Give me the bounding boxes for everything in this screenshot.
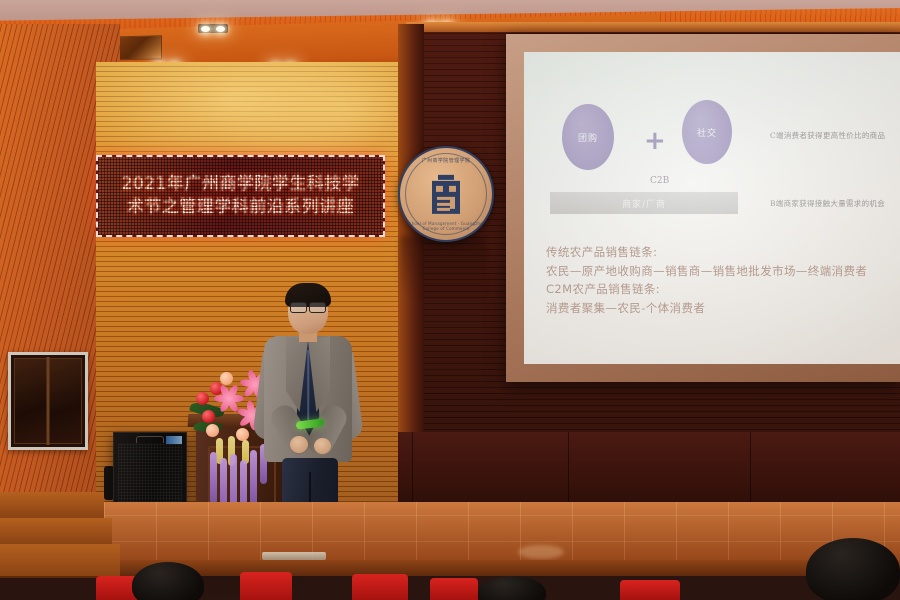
lecture-hall-photo: 2021年广州商学院学生科技学 术节之管理学科前沿系列讲座 广州商学院管理学院 … (0, 0, 900, 600)
seat-back (352, 574, 408, 600)
seat-back (240, 572, 292, 600)
floor-light-reflection (518, 545, 564, 559)
emblem-chinese-text: 广州商学院管理学院 (400, 157, 492, 164)
emblem-bell-glyph (424, 172, 468, 218)
presenter-left-hand (290, 436, 308, 453)
led-banner-line-1: 2021年广州商学院学生科技学 (122, 173, 360, 196)
wall-window (8, 352, 88, 450)
audience-head (132, 562, 204, 600)
ceiling-downlight (198, 24, 228, 33)
diagram-annotation-bottom: B端商家获得接触大量需求的机会 (770, 198, 885, 209)
stage-floor (0, 502, 900, 568)
led-banner-line-2: 术节之管理学科前沿系列讲座 (127, 196, 355, 219)
diagram-merchant-bar: 商家/厂商 (550, 192, 738, 214)
diagram-ellipse-right: 社交 (682, 100, 732, 164)
diagram-plus-icon: + (644, 128, 666, 154)
slide-body-line-3: C2M农产品销售链条: (546, 280, 867, 299)
diagram-merchant-bar-label: 商家/厂商 (622, 197, 666, 210)
presenter-right-hand (314, 438, 331, 454)
diagram-ellipse-left-label: 团购 (578, 131, 598, 144)
emblem-shadow (400, 236, 486, 296)
led-banner: 2021年广州商学院学生科技学 术节之管理学科前沿系列讲座 (96, 155, 385, 237)
diagram-c2b-label: C2B (650, 176, 669, 186)
slide-body-line-2: 农民—原产地收购商—销售商—销售地批发市场—终端消费者 (546, 262, 867, 281)
slide-body-line-1: 传统农产品销售链条: (546, 243, 867, 262)
glasses-icon (290, 302, 326, 311)
school-emblem: 广州商学院管理学院 School of Management · Guangzh… (398, 146, 494, 242)
wall-top-trim (406, 22, 900, 32)
stage-steps (0, 492, 120, 576)
floor-cable-cover (262, 552, 326, 560)
led-banner-text: 2021年广州商学院学生科技学 术节之管理学科前沿系列讲座 (98, 157, 383, 235)
pa-badge-icon (166, 436, 182, 444)
seat-back (430, 578, 478, 600)
audience-head (806, 538, 900, 600)
diagram-annotation-top: C端消费者获得更高性价比的商品 (770, 130, 885, 141)
slide-body-text: 传统农产品销售链条: 农民—原产地收购商—销售商—销售地批发市场—终端消费者 C… (546, 243, 867, 318)
emblem-english-text: School of Management · Guangzhou College… (400, 221, 492, 231)
diagram-ellipse-right-label: 社交 (697, 126, 717, 139)
audience-head (478, 576, 546, 600)
stage-back-wall (398, 432, 900, 506)
diagram-ellipse-left: 团购 (562, 104, 614, 170)
seat-back (620, 580, 680, 600)
slide-body-line-4: 消费者聚集—农民-个体消费者 (546, 299, 867, 318)
